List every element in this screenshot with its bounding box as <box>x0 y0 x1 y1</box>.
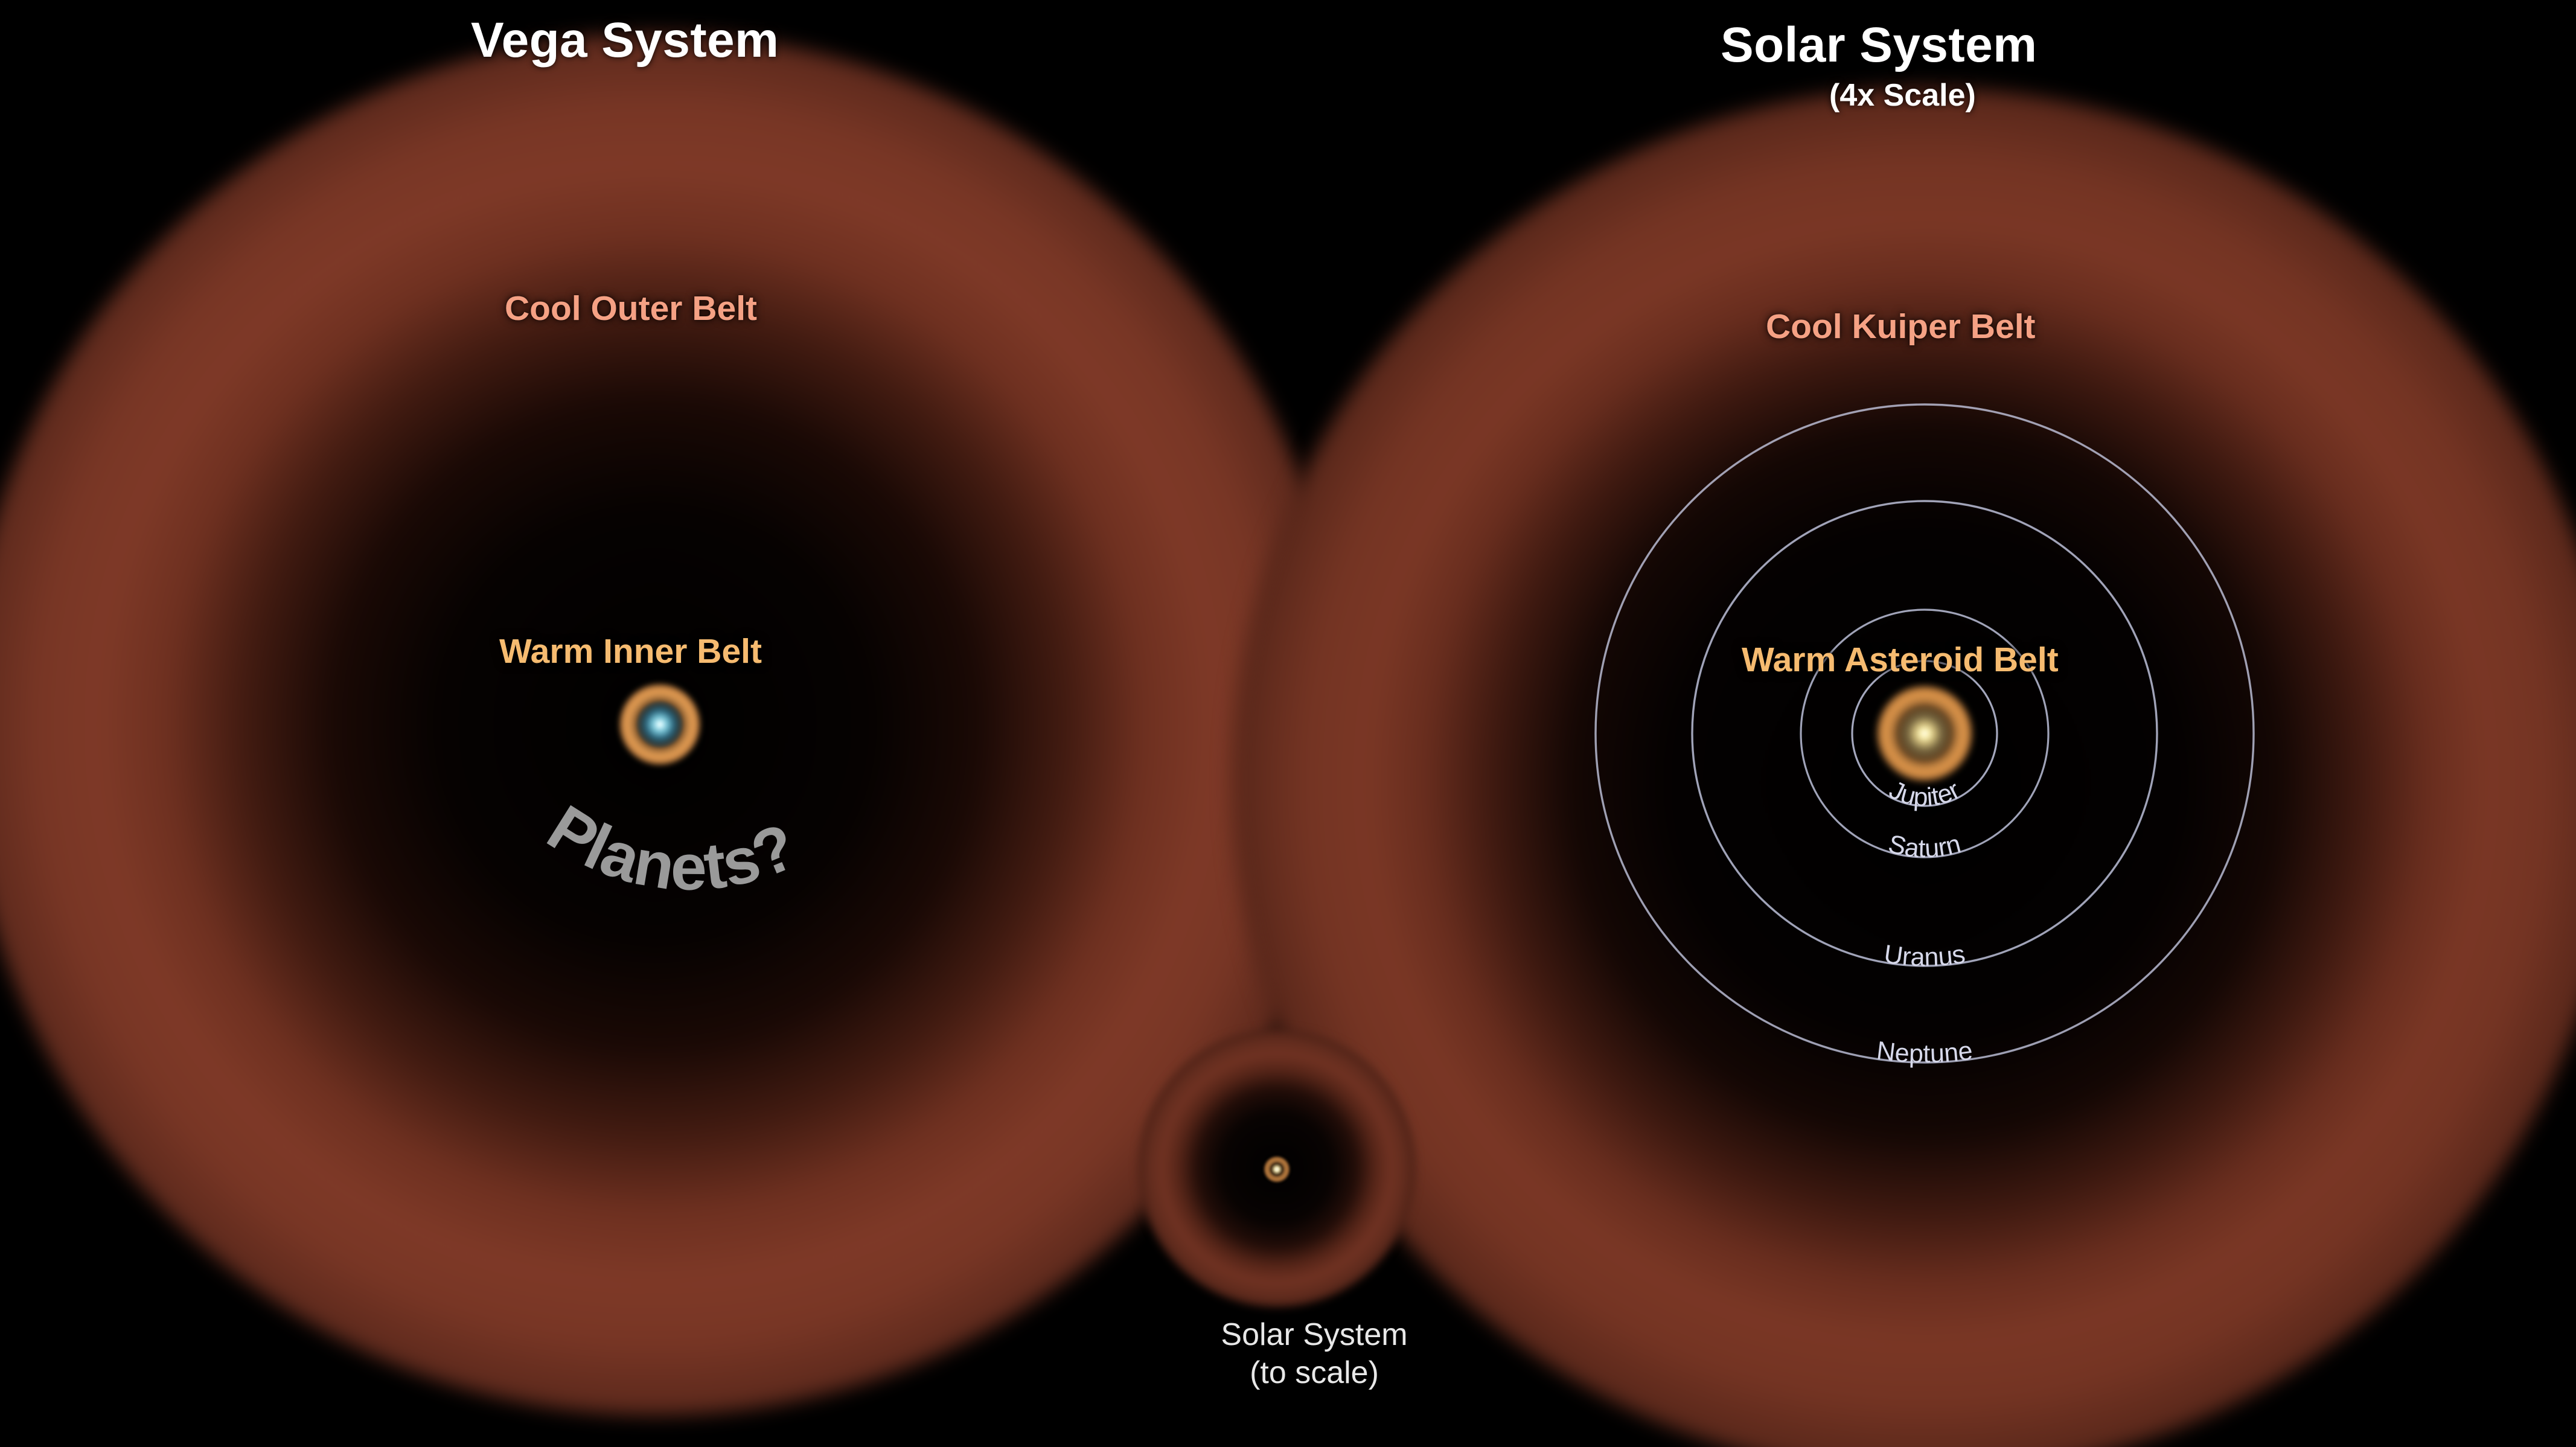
orbit-overlay: Jupiter Saturn Uranus Neptune Planets? <box>0 0 2576 1447</box>
orbit-saturn <box>1801 610 2048 857</box>
planets-question-label: Planets? <box>535 791 806 904</box>
orbit-uranus <box>1692 501 2157 966</box>
orbit-label-neptune: Neptune <box>1875 1036 1974 1068</box>
orbit-label-uranus: Uranus <box>1882 939 1967 972</box>
orbit-label-jupiter: Jupiter <box>1885 775 1964 812</box>
figure-canvas: Jupiter Saturn Uranus Neptune Planets? V… <box>0 0 2576 1447</box>
orbit-label-saturn: Saturn <box>1885 829 1964 864</box>
